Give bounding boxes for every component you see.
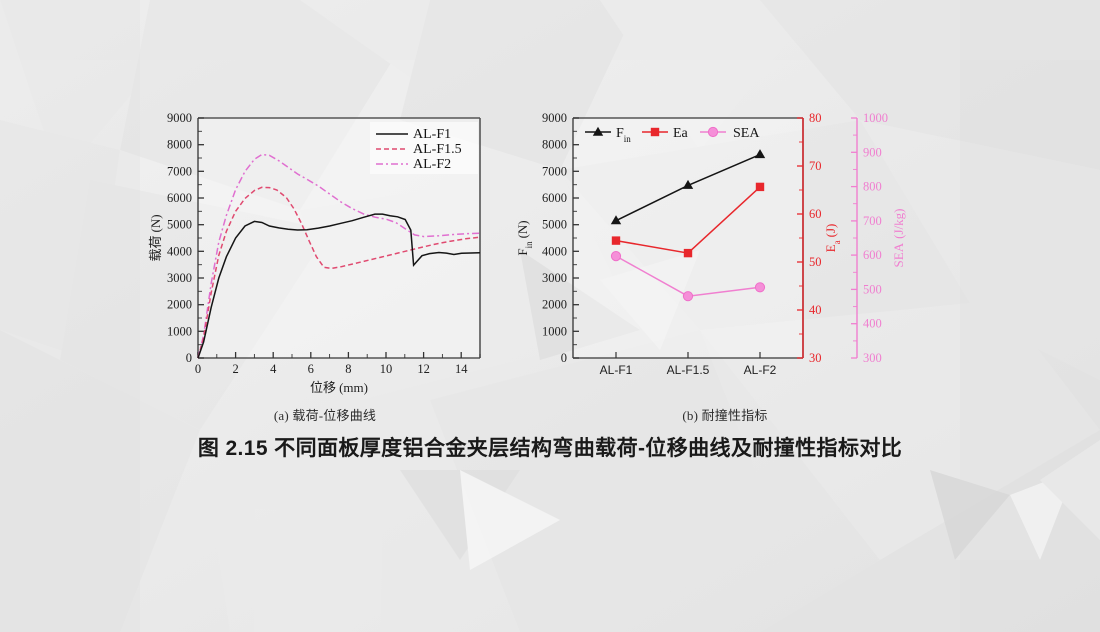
panel-b-plot-background [573,118,803,358]
panel-b-ea-tick-70: 70 [809,159,822,173]
panel-a-legend-label-2: AL-F2 [413,157,451,172]
panel-b-sea-tick-700: 700 [863,214,882,228]
panel-b-ea-tick-40: 40 [809,303,822,317]
panel-b-fin-tick-2000: 2000 [542,298,567,312]
panel-b-category-0: AL-F1 [600,363,633,377]
panel-a-ytick-9000: 9000 [167,111,192,125]
marker-square [612,236,620,244]
panel-b-legend-label-1: Ea [673,126,689,141]
panel-b-fin-tick-8000: 8000 [542,138,567,152]
panel-b-category-2: AL-F2 [744,363,777,377]
panel-a-xtick-6: 6 [308,362,314,376]
panel-b-sea-tick-900: 900 [863,145,882,159]
panel-b-crashworthiness-chart: 0 1000 2000 3000 4000 5000 6000 7000 800… [505,100,925,400]
panel-b-sea-tick-600: 600 [863,248,882,262]
panel-b-ea-tick-30: 30 [809,351,822,365]
panel-b-category-1: AL-F1.5 [667,363,710,377]
panel-b-sea-tick-1000: 1000 [863,111,888,125]
panel-b-fin-tick-7000: 7000 [542,164,567,178]
panel-b-ea-tick-80: 80 [809,111,822,125]
panel-b-sea-tick-500: 500 [863,282,882,296]
panel-a-xtick-2: 2 [232,362,238,376]
panel-a-ytick-4000: 4000 [167,244,192,258]
panel-a-xtick-8: 8 [345,362,351,376]
panel-a-legend: AL-F1 AL-F1.5 AL-F2 [370,122,478,174]
figure-main-caption: 图 2.15 不同面板厚度铝合金夹层结构弯曲载荷-位移曲线及耐撞性指标对比 [0,432,1100,462]
panel-a-ytick-7000: 7000 [167,164,192,178]
panel-a-xtick-4: 4 [270,362,277,376]
panel-b-fin-tick-6000: 6000 [542,191,567,205]
panel-b-fin-tick-0: 0 [561,351,567,365]
panel-a-legend-label-0: AL-F1 [413,127,451,142]
panel-a-ytick-0: 0 [186,351,192,365]
legend-square-icon [651,128,659,136]
panel-a-y-axis-title: 载荷(N) [148,214,163,261]
panel-b-fin-axis-title: Fin(N) [515,220,534,255]
panel-a-ytick-3000: 3000 [167,271,192,285]
panel-b-ea-tick-50: 50 [809,255,822,269]
panel-a-legend-label-1: AL-F1.5 [413,142,462,157]
panel-a-xtick-10: 10 [380,362,393,376]
marker-circle [611,252,620,261]
panel-a-ytick-1000: 1000 [167,324,192,338]
panel-b-axis-fin: 0 1000 2000 3000 4000 5000 6000 7000 800… [515,111,579,365]
marker-circle [755,283,764,292]
panel-a-x-axis-title: 位移(mm) [310,380,368,395]
panel-a-xtick-14: 14 [455,362,468,376]
panel-b-fin-tick-3000: 3000 [542,271,567,285]
panel-b-fin-tick-5000: 5000 [542,218,567,232]
panel-b-legend-label-2: SEA [733,126,760,141]
marker-square [684,249,692,257]
panel-a-load-displacement-chart: 0 1000 2000 3000 4000 5000 6000 7000 800… [140,100,510,400]
panel-a-xtick-0: 0 [195,362,201,376]
panel-b-sea-tick-400: 400 [863,317,882,331]
panel-b-fin-tick-4000: 4000 [542,244,567,258]
panel-a-ytick-8000: 8000 [167,138,192,152]
panel-b-sea-axis-title: SEA(J/kg) [891,209,906,268]
marker-circle [683,292,692,301]
panel-b-sea-tick-800: 800 [863,180,882,194]
panel-a-ytick-2000: 2000 [167,298,192,312]
panel-b-caption: (b) 耐撞性指标 [580,405,870,424]
panel-b-axis-sea: 300 400 500 600 700 800 900 1000 SEA(J/k… [851,111,906,365]
panel-a-ytick-5000: 5000 [167,218,192,232]
panel-b-ea-tick-60: 60 [809,207,822,221]
panel-a-caption: (a) 载荷-位移曲线 [180,405,470,424]
panel-a-ytick-6000: 6000 [167,191,192,205]
legend-circle-icon [708,127,717,136]
panel-b-ea-axis-title: Ea(J) [823,224,842,253]
marker-square [756,183,764,191]
panel-b-sea-tick-300: 300 [863,351,882,365]
panel-b-fin-tick-1000: 1000 [542,324,567,338]
panel-a-xtick-12: 12 [417,362,430,376]
panel-b-fin-tick-9000: 9000 [542,111,567,125]
figure-container: 0 1000 2000 3000 4000 5000 6000 7000 800… [0,0,1100,632]
